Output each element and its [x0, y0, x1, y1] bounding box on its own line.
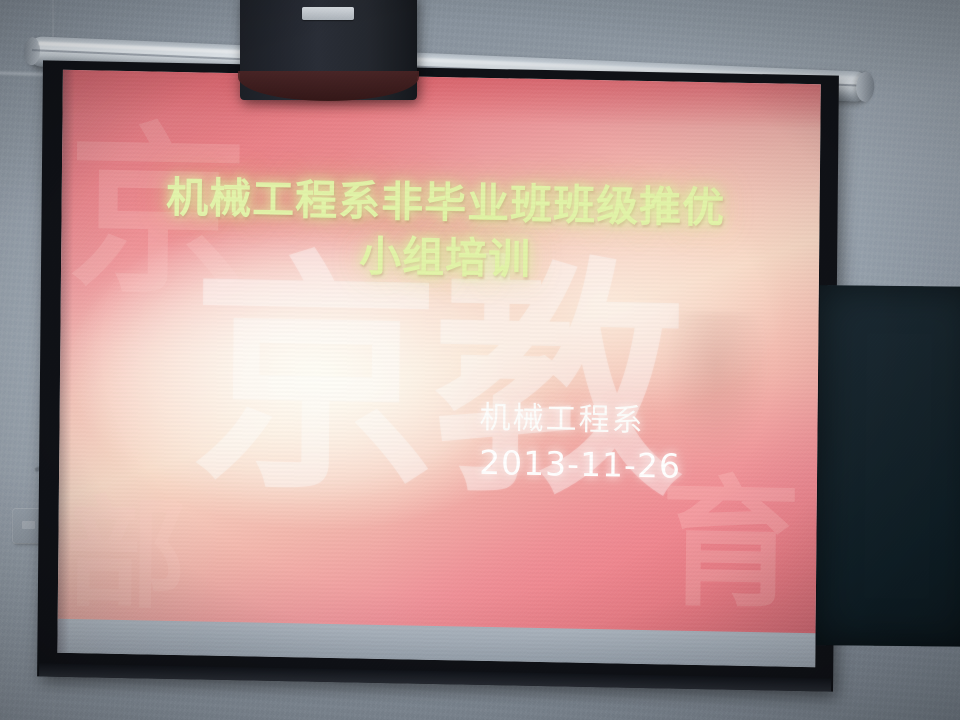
- slide-vignette: [58, 70, 821, 636]
- slide-date: 2013-11-26: [479, 442, 779, 491]
- projector-base: [238, 71, 419, 101]
- projection-screen-surface: 京 京教 育 部 机械工程系非毕业班班级推优 小组培训 机械工程系 2013-1…: [57, 70, 820, 668]
- projection-screen-frame: 京 京教 育 部 机械工程系非毕业班班级推优 小组培训 机械工程系 2013-1…: [37, 60, 839, 691]
- slide-watermark-lower-left: 部: [66, 495, 187, 617]
- projected-slide: 京 京教 育 部 机械工程系非毕业班班级推优 小组培训 机械工程系 2013-1…: [58, 70, 821, 636]
- projector-lamp-bloom: [58, 70, 821, 636]
- ceiling-projector-unit[interactable]: [240, 0, 417, 100]
- slide-organization: 机械工程系: [479, 396, 779, 446]
- classroom-scene: ThreeStars 京 京教 育 部 机械工程系非毕业班班级推优 小组培训 机…: [0, 0, 960, 720]
- slide-subtitle-block: 机械工程系 2013-11-26: [479, 396, 780, 491]
- slide-title: 机械工程系非毕业班班级推优 小组培训: [105, 169, 786, 293]
- slide-watermark-corner: 育: [660, 474, 801, 617]
- slide-top-color-band: [62, 70, 820, 131]
- projector-label-plate: [302, 7, 354, 20]
- classroom-blackboard[interactable]: [816, 285, 960, 647]
